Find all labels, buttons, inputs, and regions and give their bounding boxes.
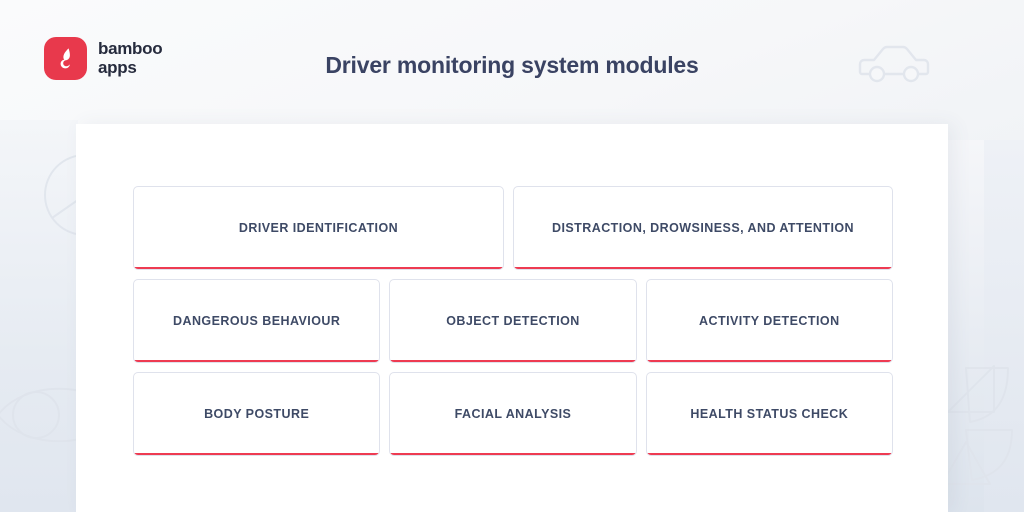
- module-card-health-status-check[interactable]: Health status check: [646, 372, 893, 456]
- background-band-left: [0, 120, 78, 512]
- module-card-dangerous-behaviour[interactable]: Dangerous behaviour: [133, 279, 380, 363]
- module-card-distraction-drowsiness-attention[interactable]: Distraction, drowsiness, and attention: [513, 186, 893, 270]
- module-card-label: Facial analysis: [455, 406, 572, 422]
- module-card-facial-analysis[interactable]: Facial analysis: [389, 372, 636, 456]
- module-card-body-posture[interactable]: Body posture: [133, 372, 380, 456]
- modules-row-3: Body posture Facial analysis Health stat…: [133, 372, 893, 456]
- module-card-label: Activity detection: [699, 313, 840, 329]
- module-card-label: Health status check: [690, 406, 848, 422]
- module-card-driver-identification[interactable]: Driver identification: [133, 186, 504, 270]
- modules-row-1: Driver identification Distraction, drows…: [133, 186, 893, 270]
- module-card-object-detection[interactable]: Object detection: [389, 279, 636, 363]
- background-band-right-inner: [984, 140, 1024, 512]
- page-header: bamboo apps Driver monitoring system mod…: [0, 0, 1024, 124]
- module-card-label: Driver identification: [239, 220, 398, 236]
- module-card-label: Object detection: [446, 313, 580, 329]
- page-background: bamboo apps Driver monitoring system mod…: [0, 0, 1024, 512]
- page-title: Driver monitoring system modules: [0, 52, 1024, 79]
- module-card-label: Body posture: [204, 406, 309, 422]
- content-panel: Driver identification Distraction, drows…: [76, 124, 948, 512]
- module-card-activity-detection[interactable]: Activity detection: [646, 279, 893, 363]
- module-card-label: Distraction, drowsiness, and attention: [552, 220, 854, 236]
- module-card-label: Dangerous behaviour: [173, 313, 340, 329]
- modules-row-2: Dangerous behaviour Object detection Act…: [133, 279, 893, 363]
- modules-grid: Driver identification Distraction, drows…: [133, 186, 893, 456]
